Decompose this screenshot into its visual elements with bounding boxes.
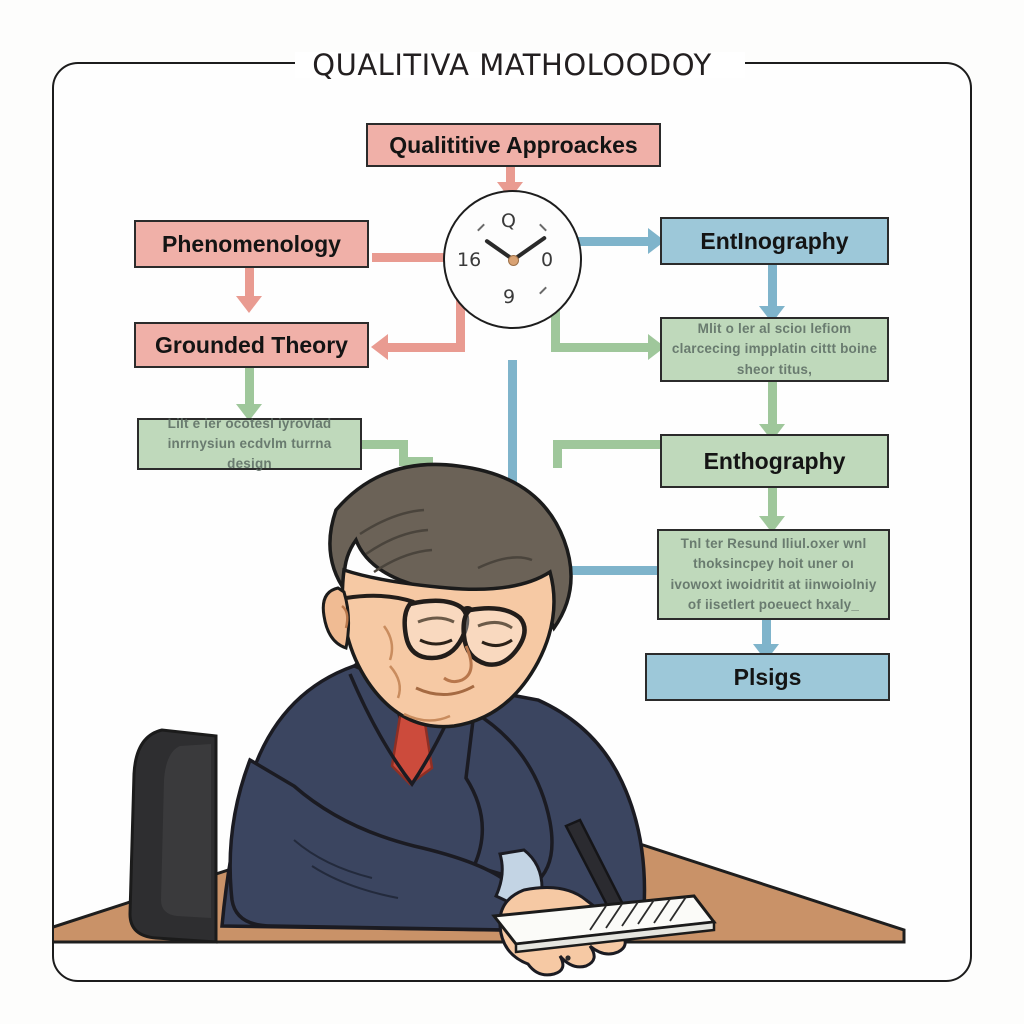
- clock-tick-upper-left: [477, 224, 485, 232]
- node-right-description-1-label: Mlit o ler al scioı lefiom clarcecing im…: [670, 319, 879, 380]
- node-root[interactable]: Qualititive Approackes: [366, 123, 661, 167]
- edge-clock-to-grounded: [388, 343, 465, 352]
- node-ethnography-blue[interactable]: EntInography: [660, 217, 889, 265]
- edge-clock-to-right-desc1: [551, 343, 653, 352]
- ear: [323, 588, 348, 648]
- illustration-man-writing: [54, 430, 970, 980]
- glasses-bridge: [462, 608, 472, 610]
- clock-numeral-right: 0: [541, 249, 553, 271]
- node-right-description-1[interactable]: Mlit o ler al scioı lefiom clarcecing im…: [660, 317, 889, 382]
- clock-numeral-left: 16: [457, 249, 481, 271]
- node-grounded-theory-label: Grounded Theory: [144, 332, 359, 359]
- clock-numeral-bottom: 9: [503, 286, 515, 308]
- node-root-label: Qualititive Approackes: [376, 132, 651, 159]
- knuckle-dot-3: [565, 955, 570, 960]
- edge-clock-to-ethnography: [572, 237, 654, 246]
- edge-clock-to-phenomenology: [372, 253, 450, 262]
- arrowhead-clock-to-grounded: [371, 334, 388, 360]
- page-title: QUALITIVA MATHOLOODOY: [0, 48, 1024, 82]
- figure-canvas: QUALITIVA MATHOLOODOY Q 16 0 9: [0, 0, 1024, 1024]
- node-ethnography-blue-label: EntInography: [670, 228, 879, 255]
- clock-tick-lower-right: [539, 287, 547, 295]
- clock-tick-upper-right: [539, 224, 547, 232]
- node-phenomenology-label: Phenomenology: [144, 231, 359, 258]
- clock-center-pin: [508, 255, 519, 266]
- chair-cushion: [161, 744, 211, 918]
- node-phenomenology[interactable]: Phenomenology: [134, 220, 369, 268]
- clock-face: Q 16 0 9: [443, 190, 582, 329]
- clock-numeral-top: Q: [501, 210, 516, 232]
- node-grounded-theory[interactable]: Grounded Theory: [134, 322, 369, 368]
- arrowhead-phenomenology-to-grounded: [236, 296, 262, 313]
